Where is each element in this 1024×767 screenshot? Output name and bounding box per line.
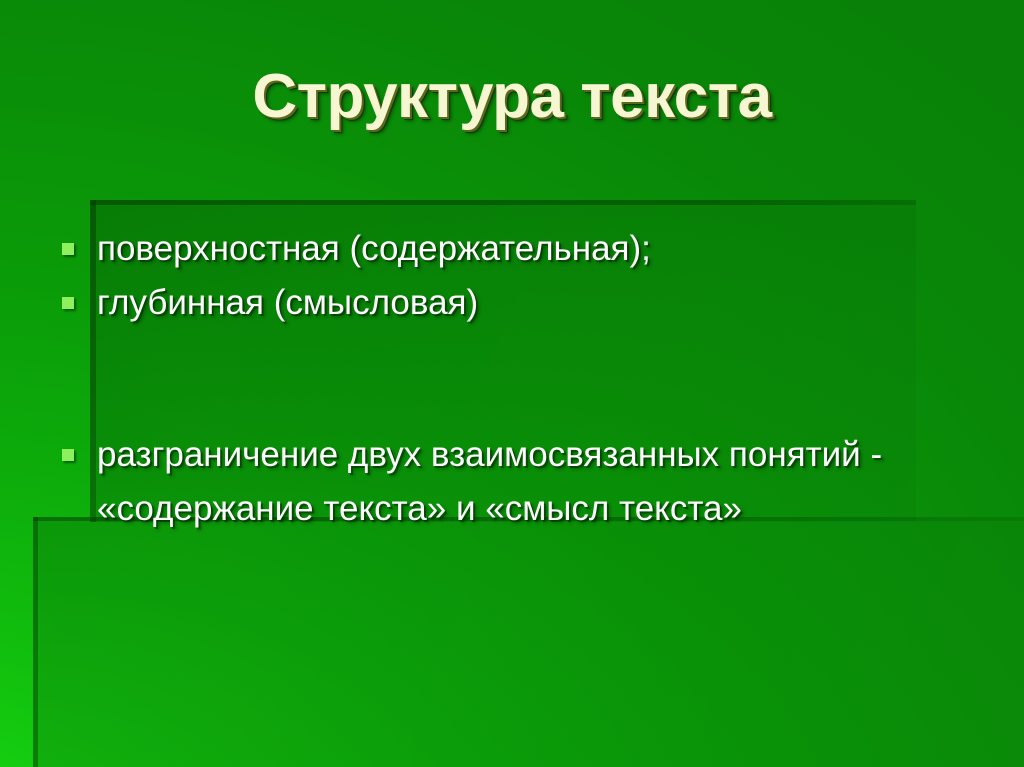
- slide-title: Структура текста: [0, 66, 1024, 128]
- square-bullet-icon: [62, 243, 74, 255]
- list-item: глубинная (смысловая): [62, 276, 982, 330]
- content-shadow-panel-upper-top-edge: [90, 200, 916, 205]
- content-shadow-panel-lower: [33, 517, 1024, 767]
- list-item-label: поверхностная (содержательная);: [97, 222, 982, 276]
- list-spacer: [62, 330, 982, 428]
- slide-canvas: Структура текста поверхностная (содержат…: [0, 0, 1024, 767]
- list-item: разграничение двух взаимосвязанных понят…: [62, 428, 982, 536]
- square-bullet-icon: [62, 449, 74, 461]
- content-shadow-panel-lower-left-edge: [33, 517, 38, 767]
- list-item-label: разграничение двух взаимосвязанных понят…: [97, 428, 982, 536]
- list-item: поверхностная (содержательная);: [62, 222, 982, 276]
- list-item-label: глубинная (смысловая): [97, 276, 982, 330]
- square-bullet-icon: [62, 297, 74, 309]
- bullet-list: поверхностная (содержательная); глубинна…: [62, 222, 982, 536]
